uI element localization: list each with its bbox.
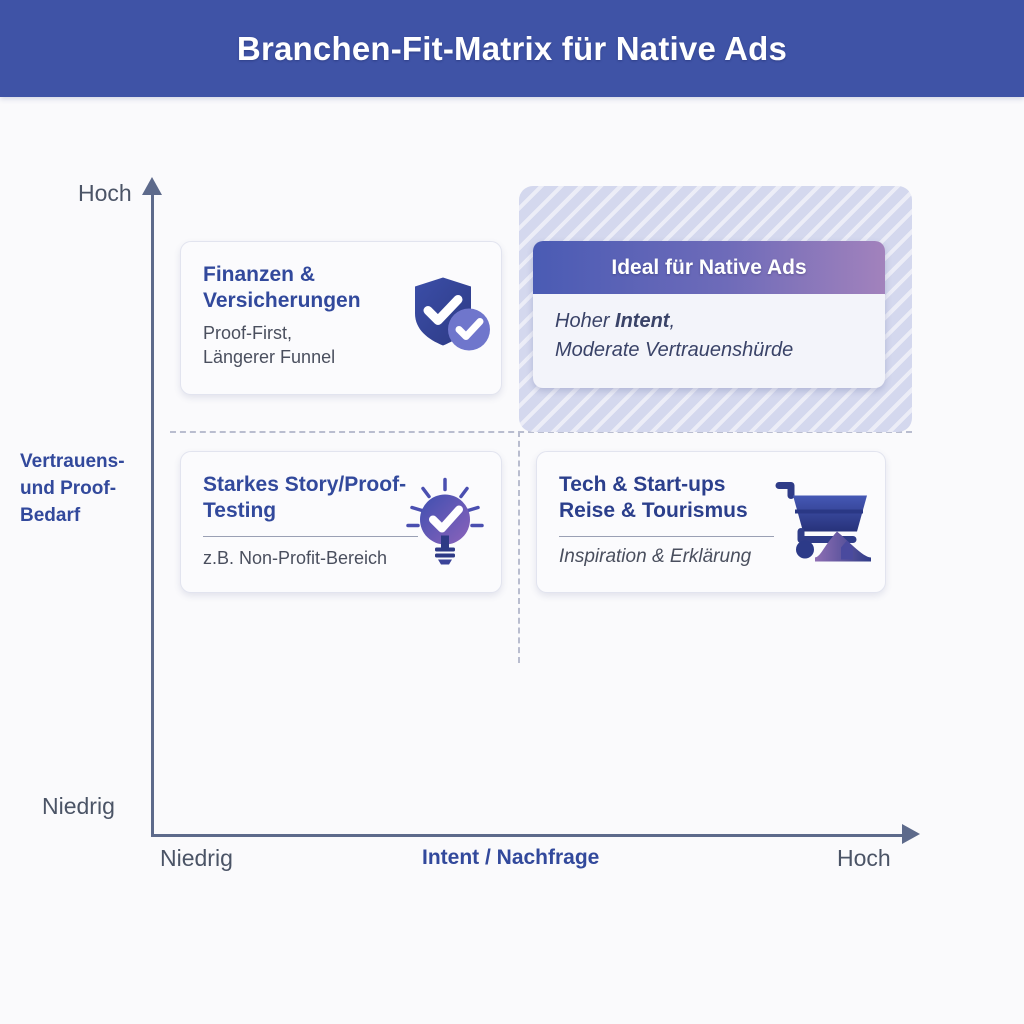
y-axis-arrow-icon bbox=[142, 177, 162, 195]
card-story-text: Starkes Story/Proof- Testing z.B. Non-Pr… bbox=[203, 472, 415, 570]
card-finance-title: Finanzen & Versicherungen bbox=[203, 262, 415, 315]
card-tech-title-line-2: Reise & Tourismus bbox=[559, 498, 799, 524]
card-finance-text: Finanzen & Versicherungen Proof-First, L… bbox=[203, 262, 415, 370]
card-story-title-line-2: Testing bbox=[203, 498, 415, 524]
highlight-body-line-2: Moderate Vertrauenshürde bbox=[555, 336, 863, 365]
y-axis-low-label: Niedrig bbox=[42, 793, 115, 820]
card-tech-title-line-1: Tech & Start-ups bbox=[559, 472, 799, 498]
shield-check-icon bbox=[403, 270, 495, 367]
highlight-body-line-1: Hoher Intent, bbox=[555, 307, 863, 336]
card-tech-subtitle: Inspiration & Erklärung bbox=[559, 546, 799, 568]
card-story-divider bbox=[203, 536, 418, 537]
highlight-body-bold: Intent bbox=[615, 310, 669, 332]
header-banner: Branchen-Fit-Matrix für Native Ads bbox=[0, 0, 1024, 97]
card-tech-text: Tech & Start-ups Reise & Tourismus Inspi… bbox=[559, 472, 799, 568]
card-finance-title-line-2: Versicherungen bbox=[203, 288, 415, 314]
card-tech-title: Tech & Start-ups Reise & Tourismus bbox=[559, 472, 799, 525]
y-axis-high-label: Hoch bbox=[78, 180, 132, 207]
highlight-card-header-label: Ideal für Native Ads bbox=[611, 256, 806, 280]
x-axis-title: Intent / Nachfrage bbox=[422, 846, 599, 870]
card-finance-title-line-1: Finanzen & bbox=[203, 262, 415, 288]
quadrant-divider-vertical bbox=[518, 431, 520, 663]
y-axis-line bbox=[151, 189, 154, 837]
highlight-body-prefix: Hoher bbox=[555, 310, 615, 332]
card-tech-divider bbox=[559, 536, 774, 537]
quadrant-card-finance[interactable]: Finanzen & Versicherungen Proof-First, L… bbox=[180, 241, 502, 395]
page-title: Branchen-Fit-Matrix für Native Ads bbox=[237, 30, 787, 68]
card-finance-subtitle: Proof-First, Längerer Funnel bbox=[203, 321, 415, 371]
highlight-region: Ideal für Native Ads Hoher Intent, Moder… bbox=[519, 186, 912, 432]
card-story-subtitle: z.B. Non-Profit-Bereich bbox=[203, 546, 415, 571]
lightbulb-check-icon bbox=[399, 474, 491, 571]
shopping-cart-icon bbox=[775, 474, 875, 571]
card-finance-sub-line-1: Proof-First, bbox=[203, 321, 415, 346]
quadrant-card-story-proof[interactable]: Starkes Story/Proof- Testing z.B. Non-Pr… bbox=[180, 451, 502, 593]
x-axis-line bbox=[151, 834, 911, 837]
card-story-title: Starkes Story/Proof- Testing bbox=[203, 472, 415, 525]
card-finance-sub-line-2: Längerer Funnel bbox=[203, 345, 415, 370]
x-axis-arrow-icon bbox=[902, 824, 920, 844]
matrix-canvas: Hoch Niedrig Vertrauens- und Proof-Bedar… bbox=[0, 97, 1024, 1024]
card-story-title-line-1: Starkes Story/Proof- bbox=[203, 472, 415, 498]
x-axis-low-label: Niedrig bbox=[160, 845, 233, 872]
highlight-card[interactable]: Ideal für Native Ads Hoher Intent, Moder… bbox=[533, 241, 885, 388]
y-axis-title: Vertrauens- und Proof-Bedarf bbox=[20, 449, 148, 530]
highlight-card-header: Ideal für Native Ads bbox=[533, 241, 885, 294]
highlight-card-body: Hoher Intent, Moderate Vertrauenshürde bbox=[533, 294, 885, 365]
quadrant-card-tech-travel[interactable]: Tech & Start-ups Reise & Tourismus Inspi… bbox=[536, 451, 886, 593]
x-axis-high-label: Hoch bbox=[837, 845, 891, 872]
highlight-body-suffix: , bbox=[669, 310, 675, 332]
